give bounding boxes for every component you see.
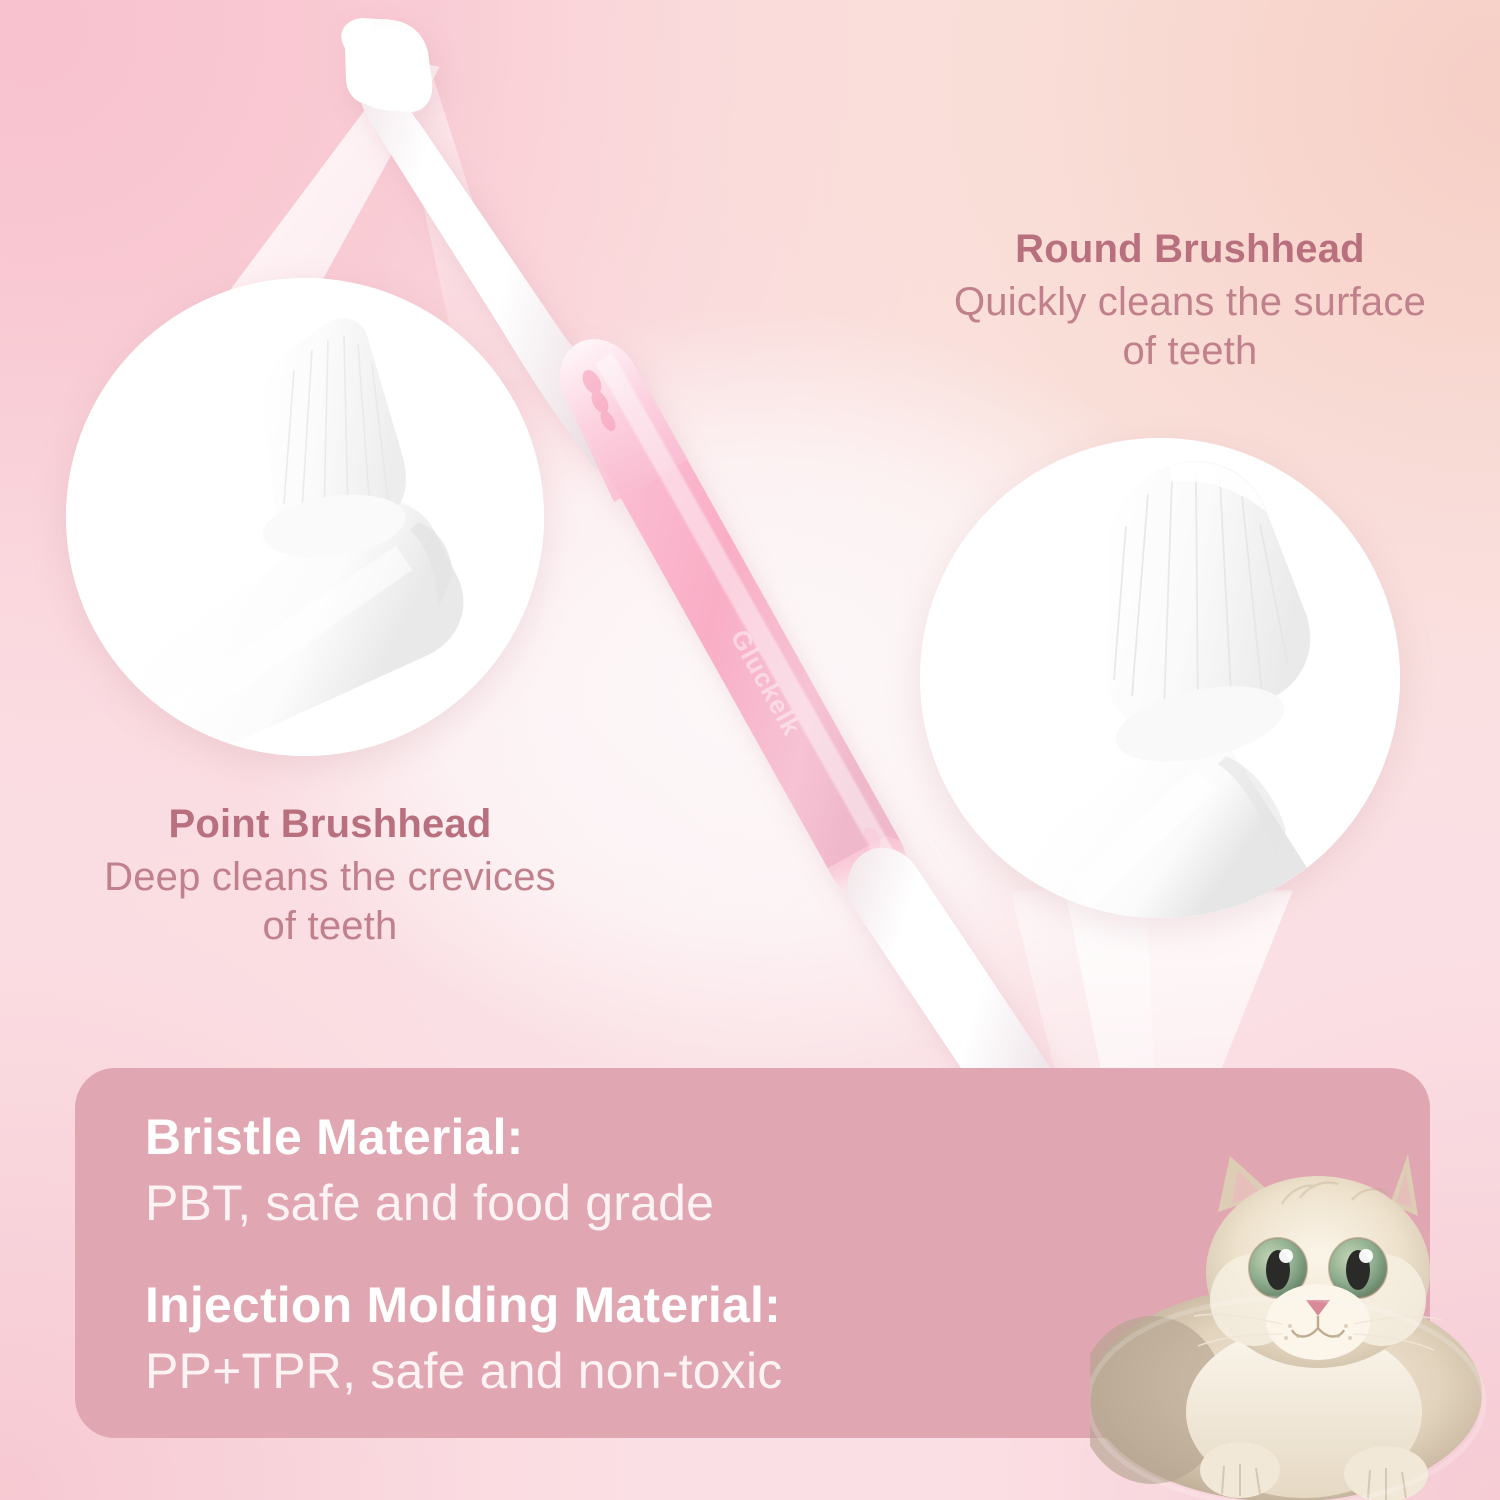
cat-eye-highlight-left bbox=[1279, 1249, 1293, 1263]
callout-point-desc-line1: Deep cleans the crevices bbox=[20, 853, 640, 902]
callout-round-brushhead: Round Brushhead Quickly cleans the surfa… bbox=[880, 225, 1500, 375]
round-bristle-icon bbox=[920, 438, 1400, 918]
spec-row-injection-molding-material: Injection Molding Material: PP+TPR, safe… bbox=[145, 1278, 782, 1401]
cat-photo bbox=[1090, 1150, 1500, 1500]
callout-round-title: Round Brushhead bbox=[880, 225, 1500, 274]
callout-point-desc-line2: of teeth bbox=[20, 902, 640, 951]
spec-injection-title: Injection Molding Material: bbox=[145, 1278, 782, 1333]
point-bristle-icon bbox=[66, 278, 544, 756]
spec-bristle-title: Bristle Material: bbox=[145, 1110, 714, 1165]
zoom-circle-point-brushhead bbox=[66, 278, 544, 756]
callout-round-desc-line2: of teeth bbox=[880, 327, 1500, 376]
zoom-circle-round-brushhead bbox=[920, 438, 1400, 918]
cat-eye-highlight-right bbox=[1359, 1249, 1373, 1263]
spec-injection-value: PP+TPR, safe and non-toxic bbox=[145, 1341, 782, 1401]
callout-point-brushhead: Point Brushhead Deep cleans the crevices… bbox=[20, 800, 640, 950]
spec-row-bristle-material: Bristle Material: PBT, safe and food gra… bbox=[145, 1110, 714, 1233]
callout-point-title: Point Brushhead bbox=[20, 800, 640, 849]
product-infographic: Gluckelk bbox=[0, 0, 1500, 1500]
spec-bristle-value: PBT, safe and food grade bbox=[145, 1173, 714, 1233]
callout-round-desc-line1: Quickly cleans the surface bbox=[880, 278, 1500, 327]
